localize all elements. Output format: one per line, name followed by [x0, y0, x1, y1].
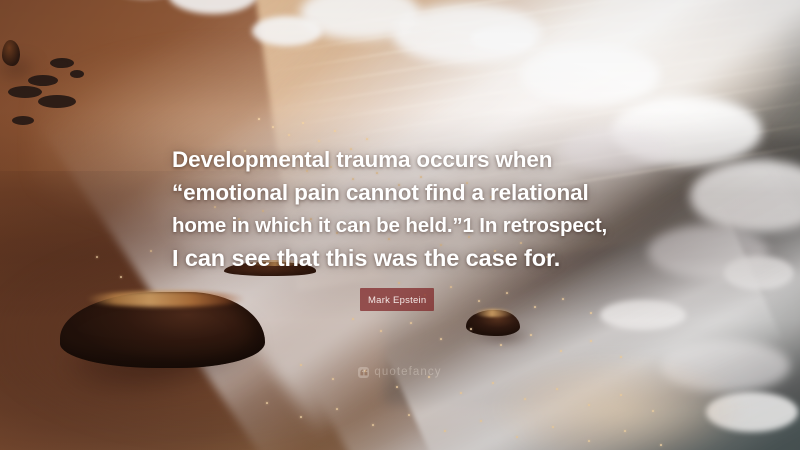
- quote-image: Developmental trauma occurs when “emotio…: [0, 0, 800, 450]
- quote-text-block: Developmental trauma occurs when “emotio…: [172, 143, 652, 275]
- quote-line-1: Developmental trauma occurs when: [172, 143, 652, 176]
- quotefancy-logo-icon: [358, 367, 369, 378]
- quote-line-4: I can see that this was the case for.: [172, 242, 652, 275]
- watermark[interactable]: quotefancy: [0, 366, 800, 378]
- quote-line-3: home in which it can be held.”1 In retro…: [172, 209, 652, 242]
- quote-line-2: “emotional pain cannot find a relational: [172, 176, 652, 209]
- author-name: Mark Epstein: [368, 295, 426, 306]
- author-attribution[interactable]: Mark Epstein: [360, 288, 434, 311]
- watermark-brand: quotefancy: [374, 366, 441, 378]
